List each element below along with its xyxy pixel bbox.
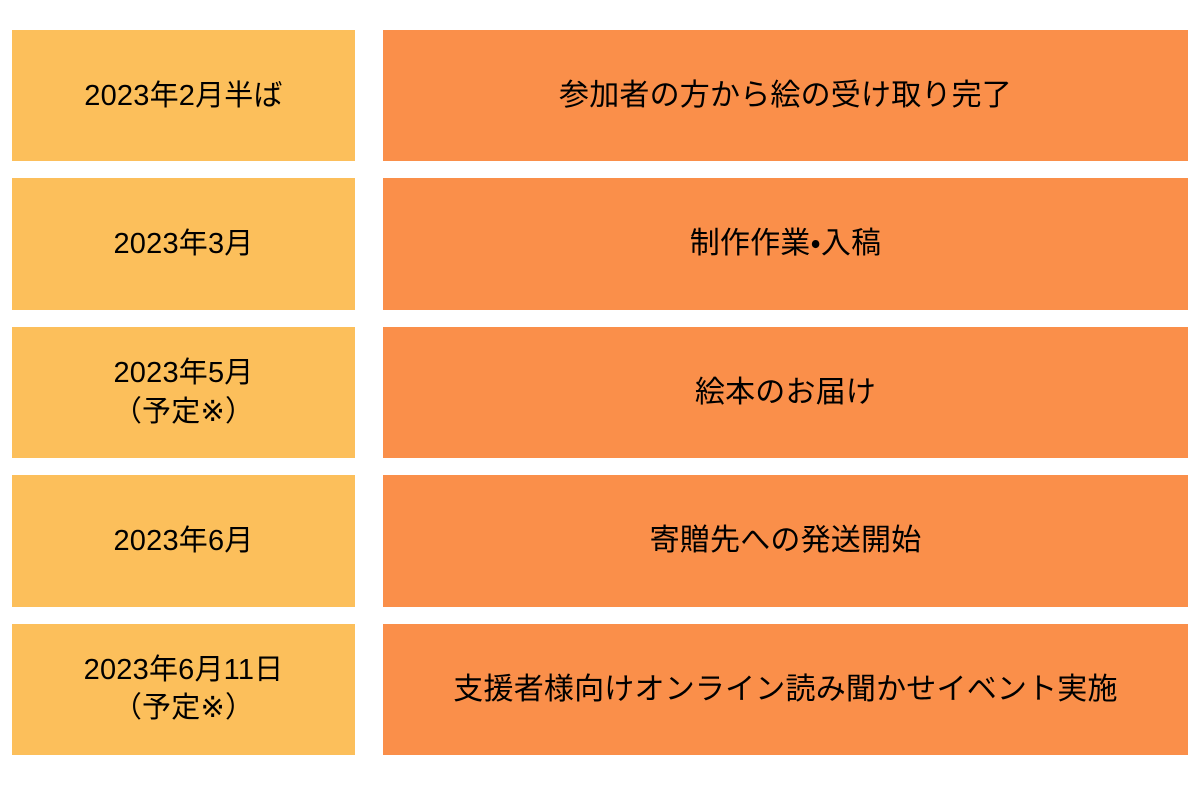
schedule-description-cell: 寄贈先への発送開始 [383, 475, 1188, 606]
schedule-date-note: （予定※） [113, 393, 254, 431]
schedule-date-lines: 2023年2月半ば [84, 77, 282, 115]
schedule-date-cell: 2023年3月 [12, 178, 355, 309]
schedule-row: 2023年2月半ば 参加者の方から絵の受け取り完了 [12, 30, 1188, 161]
schedule-date-line: 2023年6月11日 [84, 651, 284, 689]
schedule-date-lines: 2023年3月 [113, 225, 253, 263]
schedule-description-cell: 支援者様向けオンライン読み聞かせイベント実施 [383, 624, 1188, 755]
schedule-date-lines: 2023年6月11日 （予定※） [84, 651, 284, 728]
schedule-row: 2023年6月11日 （予定※） 支援者様向けオンライン読み聞かせイベント実施 [12, 624, 1188, 755]
schedule-row: 2023年5月 （予定※） 絵本のお届け [12, 327, 1188, 458]
schedule-date-line: 2023年3月 [113, 225, 253, 263]
schedule-date-lines: 2023年5月 （予定※） [113, 354, 254, 431]
schedule-date-cell: 2023年6月 [12, 475, 355, 606]
schedule-date-cell: 2023年6月11日 （予定※） [12, 624, 355, 755]
schedule-description-text: 支援者様向けオンライン読み聞かせイベント実施 [453, 670, 1117, 710]
schedule-row: 2023年6月 寄贈先への発送開始 [12, 475, 1188, 606]
schedule-description-text: 制作作業・入稿 [690, 224, 882, 264]
schedule-description-cell: 参加者の方から絵の受け取り完了 [383, 30, 1188, 161]
schedule-date-cell: 2023年2月半ば [12, 30, 355, 161]
schedule-description-text: 参加者の方から絵の受け取り完了 [559, 76, 1012, 116]
schedule-description-cell: 絵本のお届け [383, 327, 1188, 458]
schedule-date-note: （予定※） [113, 689, 254, 727]
schedule-date-line: 2023年6月 [113, 522, 253, 560]
schedule-date-cell: 2023年5月 （予定※） [12, 327, 355, 458]
schedule-description-text: 寄贈先への発送開始 [650, 521, 922, 561]
schedule-date-line: 2023年2月半ば [84, 77, 282, 115]
schedule-date-line: 2023年5月 [113, 354, 253, 392]
schedule-description-cell: 制作作業・入稿 [383, 178, 1188, 309]
schedule-description-text: 絵本のお届け [695, 373, 876, 413]
schedule-table: 2023年2月半ば 参加者の方から絵の受け取り完了 2023年3月 制作作業・入… [0, 0, 1200, 800]
schedule-row: 2023年3月 制作作業・入稿 [12, 178, 1188, 309]
schedule-date-lines: 2023年6月 [113, 522, 253, 560]
